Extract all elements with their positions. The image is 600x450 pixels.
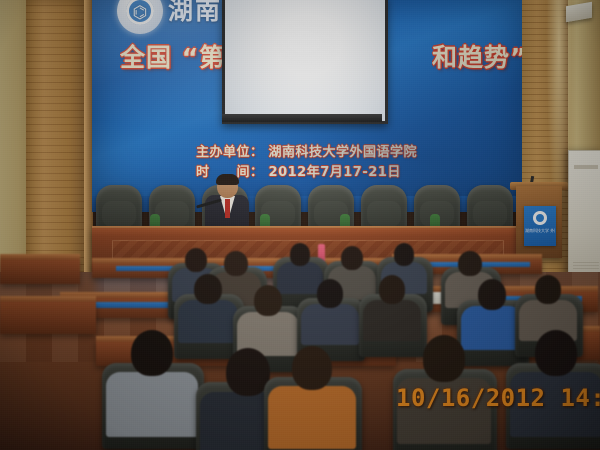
audience-head xyxy=(535,275,561,304)
audience-head xyxy=(535,330,577,376)
audience-shoulders xyxy=(301,304,359,345)
audience-head xyxy=(478,279,507,310)
audience-area xyxy=(0,0,600,450)
audience-shoulders xyxy=(178,300,238,343)
audience-head xyxy=(317,279,343,308)
audience-desk xyxy=(0,258,80,284)
audience-shoulders xyxy=(277,262,323,294)
audience-head xyxy=(341,246,363,270)
audience-shoulders xyxy=(268,386,357,449)
audience-head xyxy=(131,330,173,376)
desk-surface xyxy=(0,296,96,302)
audience-head xyxy=(185,248,207,272)
audience-shoulders xyxy=(106,372,197,437)
audience-shoulders xyxy=(461,306,523,350)
audience-shoulders xyxy=(363,300,421,341)
audience-head xyxy=(224,251,247,276)
desk-surface xyxy=(0,254,80,260)
audience-head xyxy=(290,243,311,266)
audience-head xyxy=(458,251,481,276)
audience-head xyxy=(379,275,405,304)
audience-head xyxy=(394,243,415,266)
camera-timestamp: 10/16/2012 14:23 xyxy=(396,384,600,412)
audience-head xyxy=(423,335,466,382)
photo-canvas: ⌬ 湖南 全国 “第 和趋势” 主办单位： 湖南科技大学外国语学院 时 间： 2… xyxy=(0,0,600,450)
audience-desk xyxy=(0,300,96,334)
audience-head xyxy=(292,346,333,390)
audience-head xyxy=(194,274,222,304)
audience-head xyxy=(254,285,283,316)
